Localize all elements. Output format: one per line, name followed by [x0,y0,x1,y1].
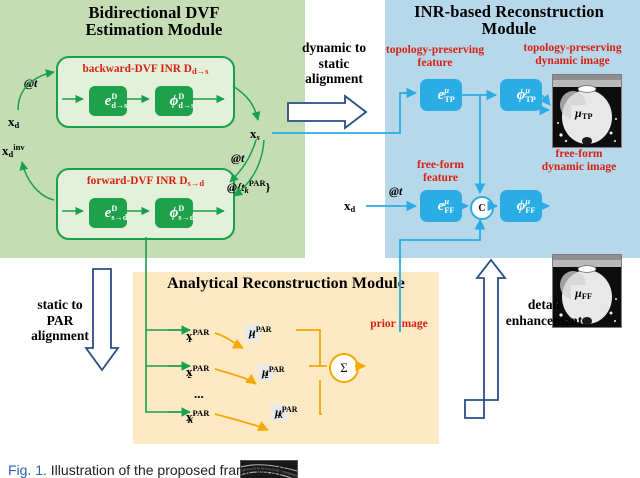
par-input-1: xPAR1 [186,327,192,344]
ff-encoder-block: eμFF [420,190,462,222]
inr-module-title: INR-based Reconstruction Module [378,3,640,38]
analytical-module-title: Analytical Reconstruction Module [150,276,422,293]
free-form-feature-caption: free-form feature [388,159,493,185]
par-input-ellipsis: ... [194,386,204,402]
label-at-t-mid: @t [231,151,244,166]
par-input-k: xPARK [186,408,193,425]
summation-node: Σ [329,353,359,383]
backward-dvf-inr-box: backward-DVF INR Dd→s eDd→s ϕDd→s [56,56,235,128]
backward-dvf-inr-label: backward-DVF INR Dd→s [58,63,233,76]
forward-encoder-block: eDs→d [89,198,127,228]
free-form-image-caption: free-form dynamic image [520,148,638,174]
prior-image-caption: prior image [355,318,443,331]
backward-phi-block: ϕDd→s [155,86,193,116]
backward-encoder-block: eDd→s [89,86,127,116]
detail-enhancement-block-arrow [465,260,505,418]
label-x-d-inv: xdinv [2,142,25,159]
par-input-2: xPAR2 [186,363,192,380]
tp-phi-block: ϕμTP [500,79,542,111]
detail-enhancement-caption: detail enhancement [480,297,608,328]
mu-tp-label: μTP [571,105,597,122]
forward-phi-block: ϕDs→d [155,198,193,228]
label-x-d: xd [8,114,19,130]
topology-preserving-image-caption: topology-preserving dynamic image [505,42,640,68]
mu-par-2-label: μPAR2 [258,364,273,381]
label-at-tk-par: @{tkPAR} [227,178,270,195]
inr-input-at-t: @t [389,184,402,199]
static-to-par-caption: static to PAR alignment [8,297,112,344]
topology-preserving-dynamic-image: μTP [552,74,622,148]
forward-dvf-inr-label: forward-DVF INR Ds→d [58,175,233,188]
label-x-s: xs [250,126,260,142]
ff-phi-block: ϕμFF [500,190,542,222]
dynamic-to-static-caption: dynamic to static alignment [278,40,390,87]
label-at-t-top: @t [24,76,37,91]
tp-encoder-block: eμTP [420,79,462,111]
forward-dvf-inr-box: forward-DVF INR Ds→d eDs→d ϕDs→d [56,168,235,240]
mu-par-1-label: μPAR1 [245,324,260,341]
figure-caption: Fig. 1. Illustration of the proposed fra… [8,462,289,478]
figure-number: Fig. 1. [8,462,47,478]
dvf-module-title: Bidirectional DVF Estimation Module [20,4,288,39]
mu-par-k-label: μPARK [271,404,287,421]
figure-canvas: Bidirectional DVF Estimation Module INR-… [0,0,640,478]
inr-input-x-d: xd [344,198,355,214]
concat-node: C [470,196,494,220]
figure-caption-text: Illustration of the proposed framework. [51,462,289,478]
